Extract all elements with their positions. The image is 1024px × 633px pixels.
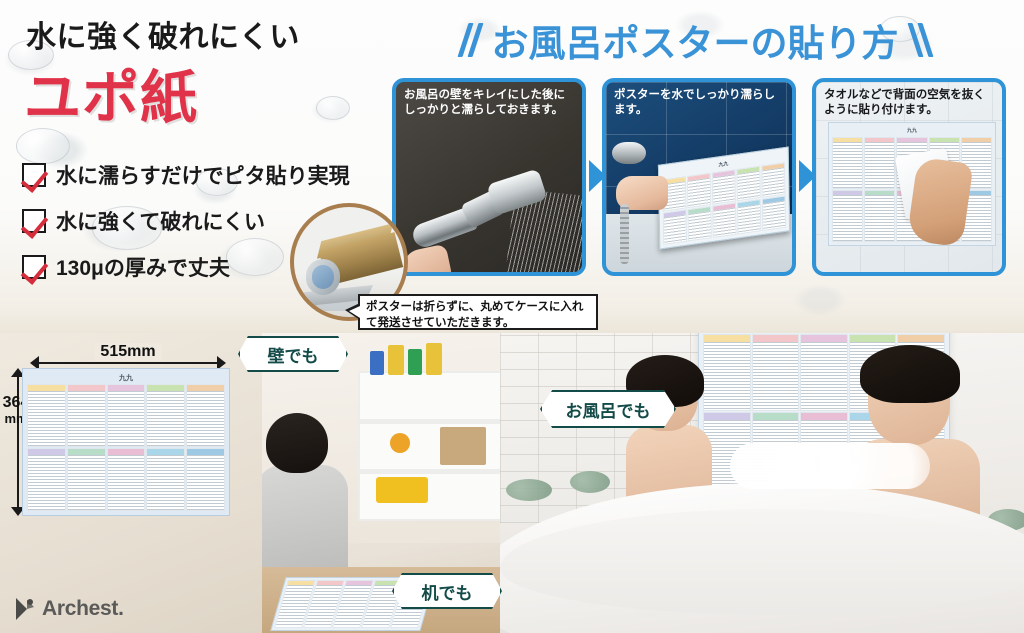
kuku-grid <box>27 384 225 511</box>
feature-label: 水に強くて破れにくい <box>56 206 265 236</box>
brand-logo: Archest. <box>14 596 124 622</box>
step-3-text: タオルなどで背面の空気を抜くように貼り付けます。 <box>824 88 996 119</box>
kuku-section <box>663 209 687 245</box>
feature-label: 水に濡らすだけでピタ貼り実現 <box>56 160 350 190</box>
step-panel-3: 九九 タオルなどで背面の空気を抜くように貼り付けます。 <box>812 78 1006 276</box>
toy-block <box>388 345 404 375</box>
kuku-section <box>107 384 146 447</box>
step-panel-1: お風呂の壁をキレイにした後にしっかりと濡らしておきます。 <box>392 78 586 276</box>
bath-bubbles <box>730 443 930 489</box>
kuku-section <box>186 448 225 511</box>
callout-bath: お風呂でも <box>540 390 676 428</box>
toy-box <box>440 427 486 465</box>
scene-wall: 515mm 364 mm 九九 <box>0 333 262 633</box>
kuku-section <box>864 137 895 189</box>
toy-shelf <box>358 371 500 521</box>
callout-wall: 壁でも <box>238 336 348 372</box>
toy-block <box>426 343 442 375</box>
bathtub-water <box>500 509 1024 615</box>
kuku-section <box>832 190 863 242</box>
slash-decoration-left-icon <box>463 23 478 57</box>
dimension-line <box>38 362 218 364</box>
step-1-text: お風呂の壁をキレイにした後にしっかりと濡らしておきます。 <box>404 88 576 119</box>
shower-head-icon <box>612 142 646 164</box>
plant-decoration <box>506 479 552 501</box>
hand-icon <box>400 244 453 276</box>
toy-block <box>408 349 422 375</box>
shower-head-photo <box>404 152 584 276</box>
kuku-section <box>761 162 785 198</box>
feature-label: 130μの厚みで丈夫 <box>56 252 230 282</box>
droplet-icon <box>316 96 350 120</box>
adult-hair <box>860 345 960 403</box>
child-head <box>266 413 328 473</box>
child-figure <box>262 413 348 593</box>
checkbox-checked-icon <box>22 209 46 233</box>
kuku-section <box>762 195 786 231</box>
checkbox-checked-icon <box>22 255 46 279</box>
scene-bath: 九九 <box>500 333 1024 633</box>
brand-name: Archest. <box>42 597 124 621</box>
dimension-width-label: 515mm <box>94 343 161 361</box>
kuku-section <box>712 202 736 238</box>
section-header: お風呂ポスターの貼り方 <box>415 14 975 66</box>
kuku-section <box>687 206 711 242</box>
checkbox-checked-icon <box>22 163 46 187</box>
kuku-section <box>107 448 146 511</box>
toy-block <box>370 351 384 375</box>
plant-decoration <box>570 471 610 493</box>
kuku-section <box>737 199 761 235</box>
headline-main-yupo: ユポ紙 <box>24 52 198 134</box>
kuku-title: 九九 <box>832 126 992 135</box>
callout-desk: 机でも <box>392 573 502 609</box>
kuku-section <box>752 334 800 411</box>
shipping-note: ポスターは折らずに、丸めてケースに入れて発送させていただきます。 <box>358 294 598 330</box>
kuku-section <box>146 448 185 511</box>
advertisement-canvas: 水に強く破れにくい ユポ紙 水に濡らすだけでピタ貼り実現 水に強くて破れにくい … <box>0 0 1024 633</box>
kuku-table-mini: 九九 <box>27 373 225 511</box>
kuku-section <box>736 166 760 202</box>
kuku-section <box>67 384 106 447</box>
kuku-table-mini: 九九 <box>662 151 786 245</box>
kuku-section <box>832 137 863 189</box>
feature-item: 水に濡らすだけでピタ貼り実現 <box>22 152 362 198</box>
rolled-poster-icon <box>306 259 340 295</box>
kuku-section <box>146 384 185 447</box>
kuku-section <box>27 448 66 511</box>
kuku-section <box>687 173 711 209</box>
headline-top: 水に強く破れにくい <box>26 12 300 56</box>
dimension-width: 515mm <box>30 355 226 369</box>
section-header-title: お風呂ポスターの貼り方 <box>492 13 899 67</box>
slash-decoration-right-icon <box>913 23 928 57</box>
poster-on-wall: 九九 <box>22 368 230 516</box>
kuku-title: 九九 <box>27 373 225 382</box>
kuku-section <box>712 169 736 205</box>
kuku-section <box>67 448 106 511</box>
kuku-section <box>800 334 848 411</box>
archest-arrow-icon <box>14 596 36 622</box>
step-panel-2: 九九 ポスターを水でしっかり濡らします。 <box>602 78 796 276</box>
toy-truck <box>376 477 428 503</box>
usage-scenes: 515mm 364 mm 九九 <box>0 333 1024 633</box>
kuku-section <box>27 384 66 447</box>
kuku-section <box>864 190 895 242</box>
kuku-section <box>186 384 225 447</box>
toy-ball <box>390 433 410 453</box>
step-2-text: ポスターを水でしっかり濡らします。 <box>614 88 786 119</box>
shower-hose <box>620 204 629 264</box>
